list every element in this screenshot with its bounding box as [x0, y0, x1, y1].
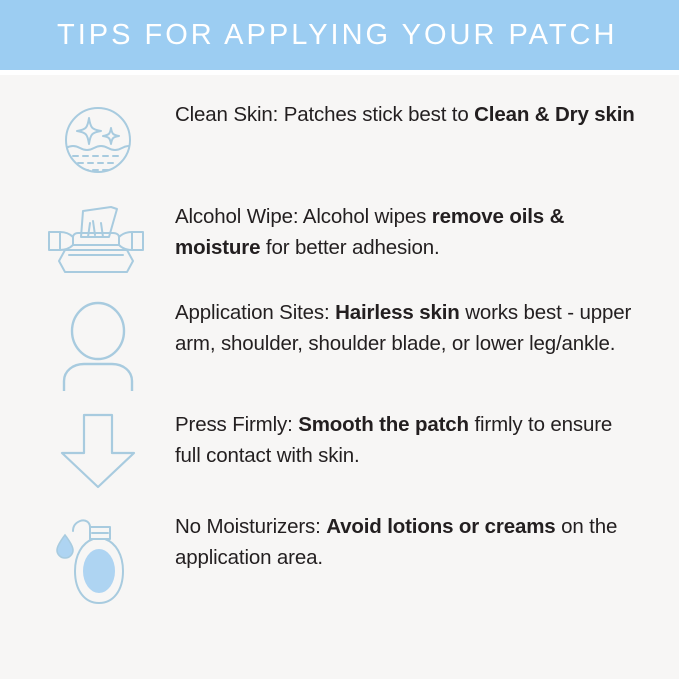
alcohol-wipe-box-icon [43, 203, 153, 275]
tip-icon-cell [20, 297, 175, 391]
tip-label: Application Sites: [175, 301, 335, 324]
tip-row: No Moisturizers: Avoid lotions or creams… [20, 511, 659, 613]
tip-text: Press Firmly: Smooth the patch firmly to… [175, 409, 659, 471]
clean-skin-sparkle-icon [59, 101, 137, 179]
tip-text: No Moisturizers: Avoid lotions or creams… [175, 511, 659, 573]
tip-text: Application Sites: Hairless skin works b… [175, 297, 659, 359]
tip-icon-cell [20, 511, 175, 613]
tip-label: No Moisturizers: [175, 515, 326, 538]
tip-body-part-1: Alcohol wipes [303, 205, 432, 228]
tip-body-bold: Avoid lotions or creams [326, 515, 555, 538]
tip-label: Alcohol Wipe: [175, 205, 303, 228]
tip-icon-cell [20, 201, 175, 275]
tip-body-part-1: Patches stick best to [284, 103, 474, 126]
tip-row: Clean Skin: Patches stick best to Clean … [20, 99, 659, 179]
tip-text: Clean Skin: Patches stick best to Clean … [175, 99, 659, 130]
tip-icon-cell [20, 409, 175, 491]
application-sites-person-icon [54, 299, 142, 391]
tip-body-part-2: for better adhesion. [260, 236, 439, 259]
tip-row: Press Firmly: Smooth the patch firmly to… [20, 409, 659, 491]
tip-body-bold: Hairless skin [335, 301, 460, 324]
header-band: TIPS FOR APPLYING YOUR PATCH [0, 0, 679, 70]
tips-infographic: TIPS FOR APPLYING YOUR PATCH [0, 0, 679, 679]
tip-row: Application Sites: Hairless skin works b… [20, 297, 659, 391]
tip-body-bold: Clean & Dry skin [474, 103, 635, 126]
tip-label: Press Firmly: [175, 413, 298, 436]
tip-icon-cell [20, 99, 175, 179]
tip-body-bold: Smooth the patch [298, 413, 469, 436]
page-title: TIPS FOR APPLYING YOUR PATCH [57, 21, 617, 50]
tips-list: Clean Skin: Patches stick best to Clean … [0, 75, 679, 679]
tip-label: Clean Skin: [175, 103, 284, 126]
tip-row: Alcohol Wipe: Alcohol wipes remove oils … [20, 201, 659, 275]
no-moisturizers-lotion-bottle-icon [52, 513, 144, 613]
press-firmly-down-arrow-icon [56, 411, 140, 491]
tip-text: Alcohol Wipe: Alcohol wipes remove oils … [175, 201, 659, 263]
